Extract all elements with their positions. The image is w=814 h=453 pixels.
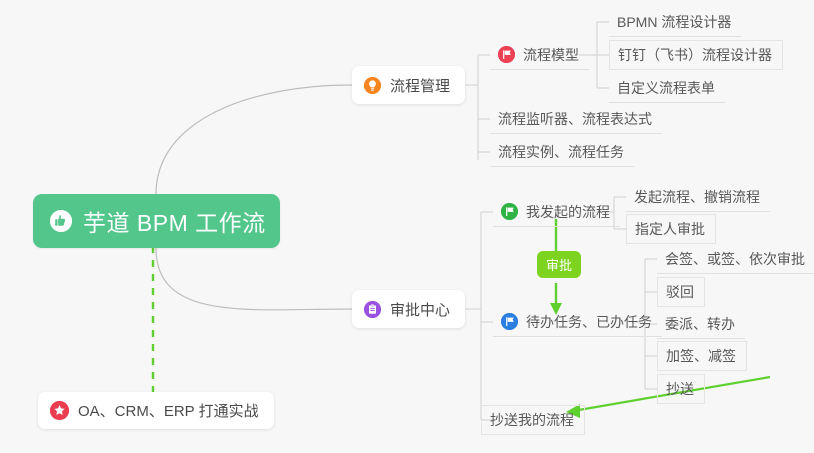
node-label: 待办任务、已办任务 — [526, 312, 652, 332]
node-delegate-transfer[interactable]: 委派、转办 — [657, 309, 745, 339]
node-label: 委派、转办 — [665, 314, 735, 334]
node-label: 流程监听器、流程表达式 — [498, 109, 652, 129]
thumbs-up-icon — [50, 210, 72, 232]
node-assignee-approval[interactable]: 指定人审批 — [626, 214, 716, 244]
node-label: 抄送我的流程 — [490, 410, 574, 430]
star-icon — [50, 401, 69, 420]
node-process-management[interactable]: 流程管理 — [352, 66, 465, 104]
node-start-cancel-process[interactable]: 发起流程、撤销流程 — [626, 182, 770, 212]
node-approval-center[interactable]: 审批中心 — [352, 290, 465, 328]
root-label: 芋道 BPM 工作流 — [83, 204, 266, 238]
lightbulb-icon — [364, 77, 381, 94]
node-label: 发起流程、撤销流程 — [634, 187, 760, 207]
clipboard-icon — [364, 301, 381, 318]
flag-icon — [501, 203, 518, 220]
node-label: 抄送 — [666, 379, 694, 399]
node-reject[interactable]: 驳回 — [657, 277, 705, 307]
node-instance-task[interactable]: 流程实例、流程任务 — [490, 137, 634, 167]
node-label: 流程实例、流程任务 — [498, 142, 624, 162]
node-label: 指定人审批 — [635, 219, 705, 239]
node-label: 流程管理 — [390, 75, 450, 96]
footnote-label: OA、CRM、ERP 打通实战 — [78, 400, 259, 421]
node-cc[interactable]: 抄送 — [657, 374, 705, 404]
node-bpmn-designer[interactable]: BPMN 流程设计器 — [609, 7, 741, 37]
node-process-model[interactable]: 流程模型 — [490, 40, 589, 70]
node-add-remove-sign[interactable]: 加签、减签 — [657, 341, 747, 371]
node-label: 审批中心 — [390, 299, 450, 320]
node-label: 流程模型 — [523, 45, 579, 65]
footnote-node[interactable]: OA、CRM、ERP 打通实战 — [38, 392, 274, 429]
root-node[interactable]: 芋道 BPM 工作流 — [33, 194, 280, 248]
node-my-started-process[interactable]: 我发起的流程 — [493, 197, 620, 227]
flag-icon — [501, 313, 518, 330]
node-custom-form[interactable]: 自定义流程表单 — [609, 73, 725, 103]
node-label: 我发起的流程 — [526, 202, 610, 222]
node-label: BPMN 流程设计器 — [617, 12, 731, 32]
node-label: 自定义流程表单 — [617, 78, 715, 98]
node-dingtalk-designer[interactable]: 钉钉（飞书）流程设计器 — [609, 40, 783, 70]
mindmap-canvas: 芋道 BPM 工作流 流程管理 流程模型 BPMN 流程设计器 钉钉（飞书 — [0, 0, 814, 453]
node-countersign[interactable]: 会签、或签、依次审批 — [657, 244, 814, 274]
flag-icon — [498, 46, 515, 63]
node-label: 加签、减签 — [666, 346, 736, 366]
node-label: 驳回 — [666, 282, 694, 302]
node-label: 会签、或签、依次审批 — [665, 249, 805, 269]
approval-badge[interactable]: 审批 — [537, 251, 581, 278]
node-cc-to-me[interactable]: 抄送我的流程 — [481, 405, 585, 435]
node-listener-expression[interactable]: 流程监听器、流程表达式 — [490, 104, 662, 134]
node-todo-done-tasks[interactable]: 待办任务、已办任务 — [493, 307, 662, 337]
node-label: 钉钉（飞书）流程设计器 — [618, 45, 772, 65]
badge-label: 审批 — [546, 255, 572, 274]
